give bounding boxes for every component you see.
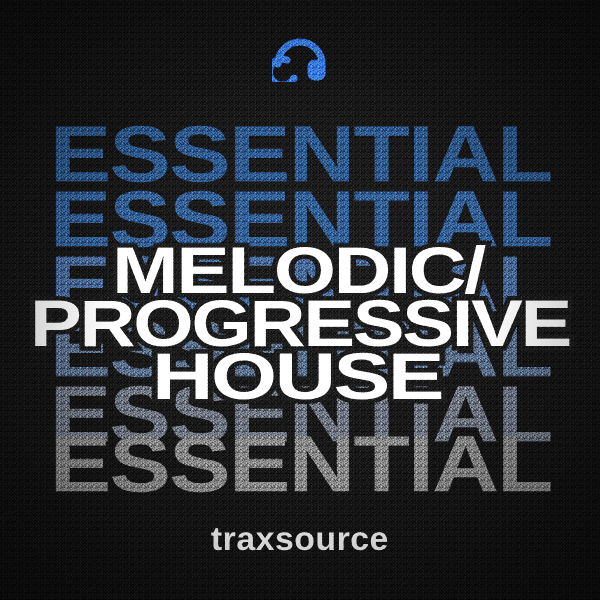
album-cover-artwork: ESSENTIALESSENTIALESSENTIALESSENTIALESSE… — [0, 0, 600, 600]
traxsource-logo — [0, 30, 600, 86]
traxsource-wordmark: traxsource — [0, 520, 600, 558]
essential-row: ESSENTIAL — [50, 424, 484, 503]
essential-background-text: ESSENTIALESSENTIALESSENTIALESSENTIALESSE… — [0, 0, 600, 600]
traxsource-wordmark-text: traxsource — [211, 520, 389, 558]
essential-row-text: ESSENTIAL — [50, 424, 552, 503]
headphones-icon — [272, 34, 328, 82]
